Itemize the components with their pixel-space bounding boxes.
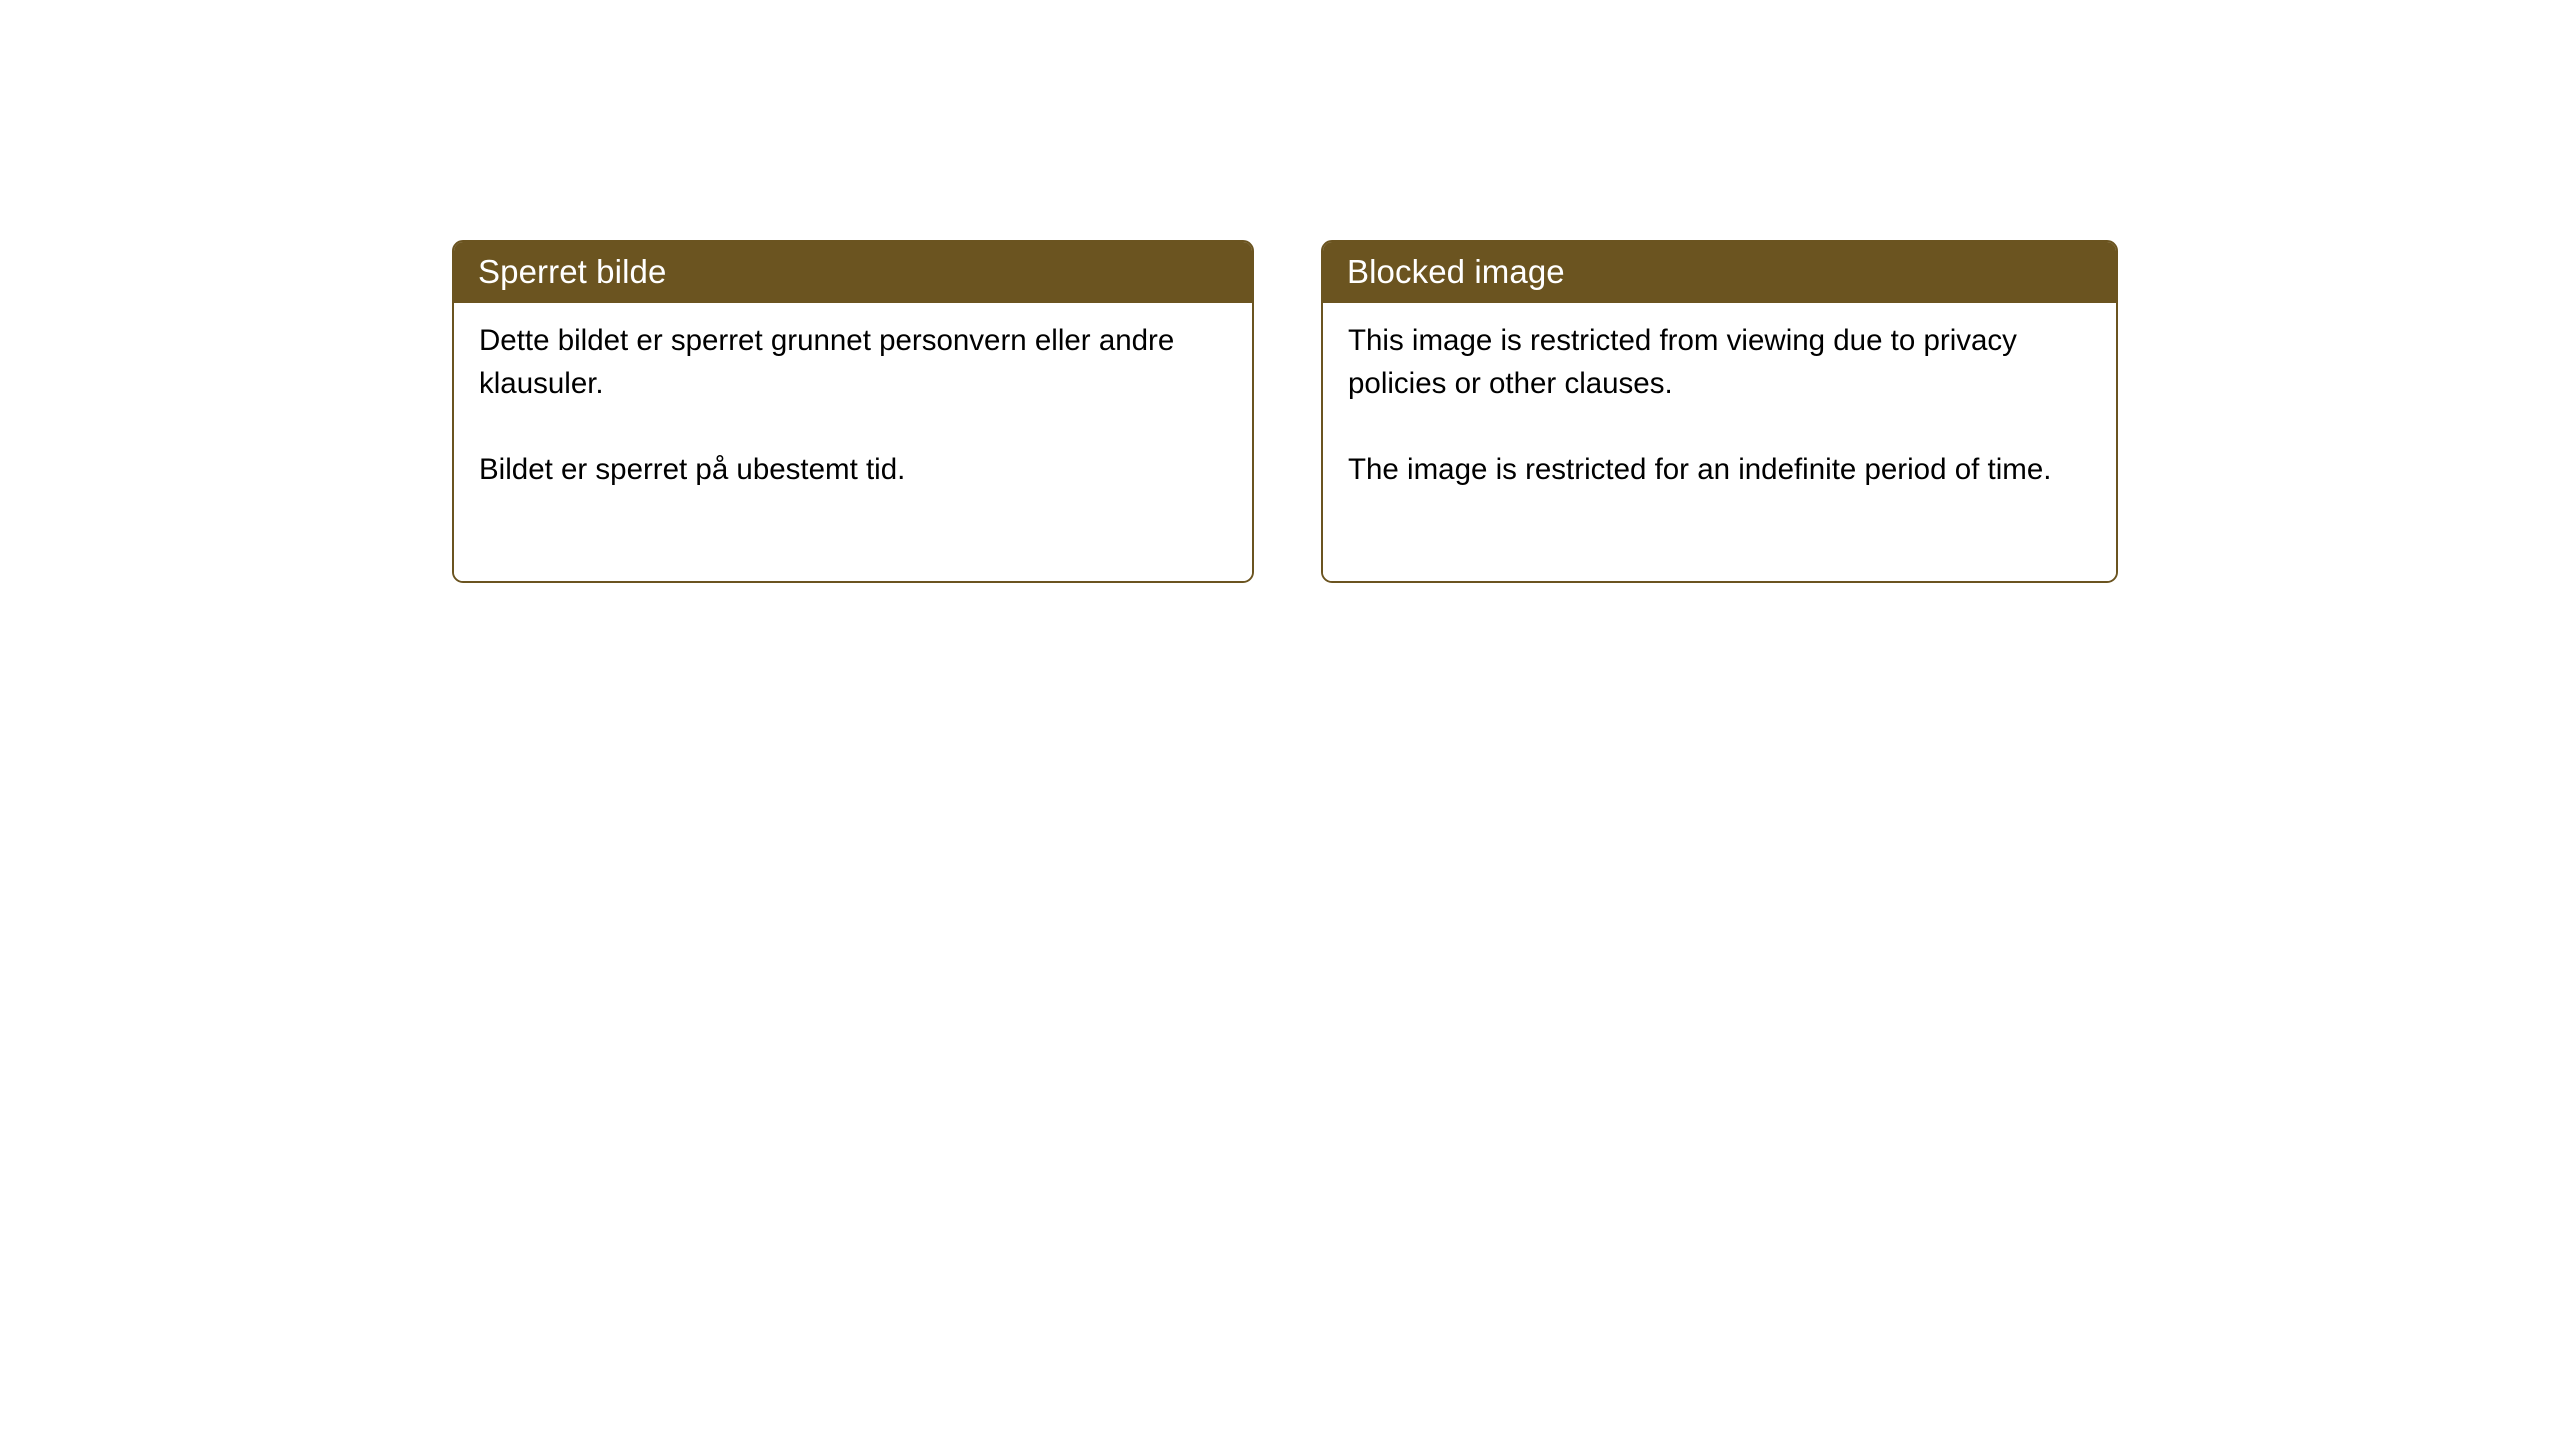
card-paragraph-reason-norwegian: Dette bildet er sperret grunnet personve… xyxy=(479,319,1230,405)
card-paragraph-duration-english: The image is restricted for an indefinit… xyxy=(1348,448,2094,491)
card-header-english: Blocked image xyxy=(1323,242,2116,303)
card-body-norwegian: Dette bildet er sperret grunnet personve… xyxy=(454,303,1252,581)
card-title-norwegian: Sperret bilde xyxy=(478,255,666,288)
card-paragraph-duration-norwegian: Bildet er sperret på ubestemt tid. xyxy=(479,448,1230,491)
blocked-image-notices: Sperret bilde Dette bildet er sperret gr… xyxy=(452,240,2118,583)
blocked-image-card-norwegian: Sperret bilde Dette bildet er sperret gr… xyxy=(452,240,1254,583)
card-header-norwegian: Sperret bilde xyxy=(454,242,1252,303)
card-title-english: Blocked image xyxy=(1347,255,1565,288)
card-paragraph-reason-english: This image is restricted from viewing du… xyxy=(1348,319,2094,405)
blocked-image-card-english: Blocked image This image is restricted f… xyxy=(1321,240,2118,583)
card-body-english: This image is restricted from viewing du… xyxy=(1323,303,2116,581)
